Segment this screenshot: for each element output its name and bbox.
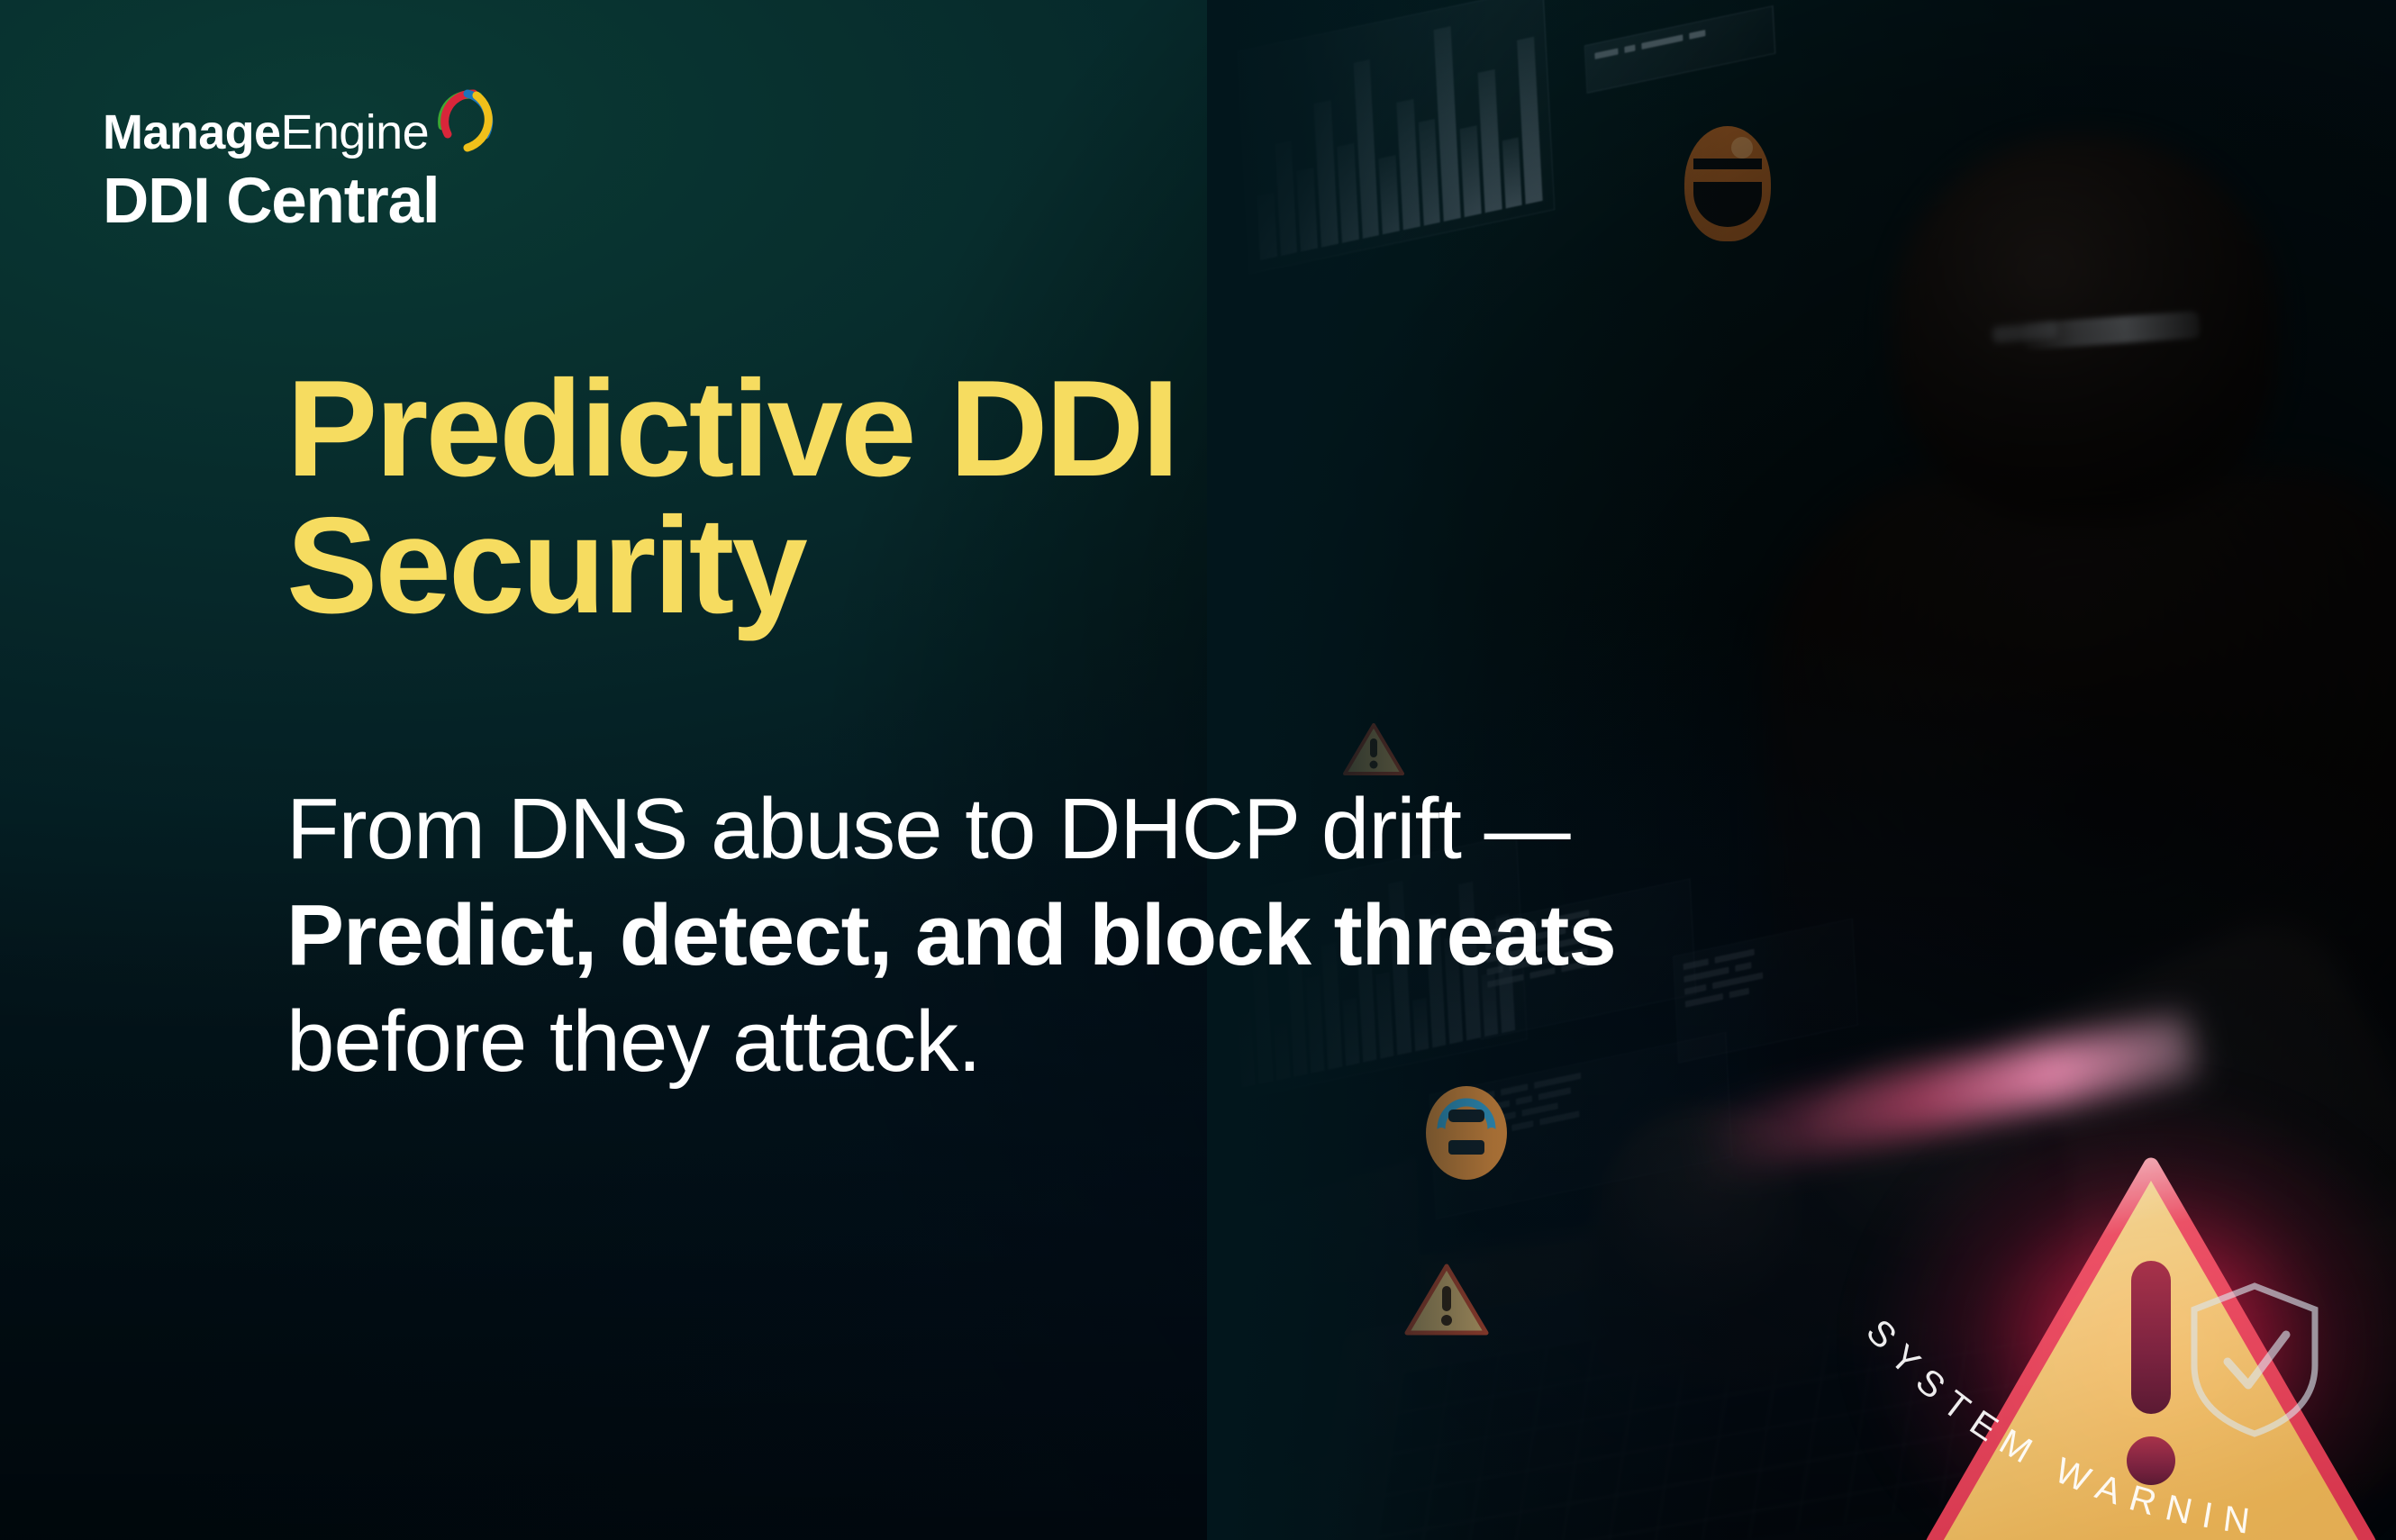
promotional-banner: SYSTEM WARNING ManageEngine bbox=[0, 0, 2396, 1540]
logo-manage-text: Manage bbox=[103, 108, 280, 157]
headline: Predictive DDI Security bbox=[286, 360, 1620, 634]
subheading-part-1: From DNS abuse to DHCP drift — bbox=[286, 781, 1570, 877]
product-name: DDI Central bbox=[103, 169, 500, 233]
manageengine-logo[interactable]: ManageEngine DDI Central bbox=[103, 108, 500, 233]
photo-left-fade bbox=[1207, 0, 2396, 1540]
hero-photo: SYSTEM WARNING bbox=[1207, 0, 2396, 1540]
subheading: From DNS abuse to DHCP drift — Predict, … bbox=[286, 776, 1629, 1095]
subheading-part-3: before they attack. bbox=[286, 993, 981, 1090]
subheading-part-2-bold: Predict, detect, and block threats bbox=[286, 887, 1616, 983]
manageengine-swoosh-icon bbox=[431, 85, 500, 153]
logo-wordmark: ManageEngine bbox=[103, 108, 500, 157]
logo-engine-text: Engine bbox=[280, 108, 429, 157]
